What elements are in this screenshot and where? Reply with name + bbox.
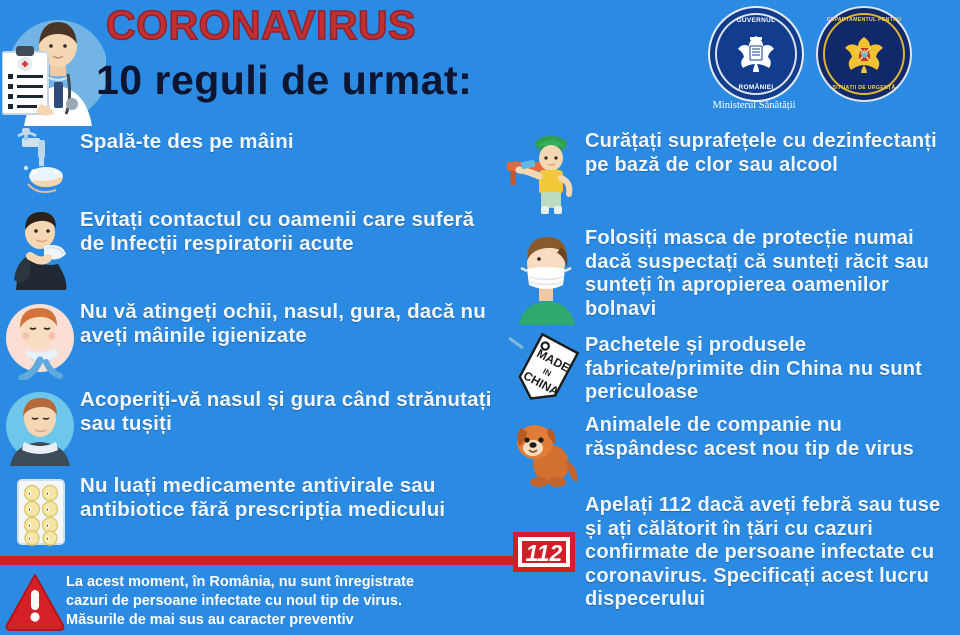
footer-line-2: cazuri de persoane infectate cu noul tip… — [66, 592, 414, 611]
rule-text: Evitați contactul cu oamenii care suferă… — [80, 206, 500, 256]
rule-text: Apelați 112 dacă aveți febră sau tuse și… — [585, 492, 960, 612]
rule-text: Acoperiți-vă nasul și gura când strănuta… — [80, 386, 500, 436]
doctor-illustration-icon — [2, 8, 106, 126]
rule-item: Evitați contactul cu oamenii care suferă… — [0, 206, 500, 298]
footer-text: La acest moment, în România, nu sunt înr… — [66, 568, 414, 630]
boy-touching-face-icon — [0, 298, 80, 370]
rule-text: Folosiți masca de protecție numai dacă s… — [585, 225, 960, 321]
ministry-label: Ministerul Sănătății — [698, 100, 810, 111]
rule-item: Nu vă atingeți ochii, nasul, gura, dacă … — [0, 298, 500, 386]
rule-text: Curățați suprafețele cu dezinfectanți pe… — [585, 128, 960, 177]
gov-seal-top-text: GUVERNUL — [710, 17, 802, 24]
dog-pet-icon — [505, 412, 585, 484]
boy-cleaning-surface-icon — [505, 128, 585, 200]
rule-item: Acoperiți-vă nasul și gura când strănuta… — [0, 386, 500, 472]
person-with-face-mask-icon — [505, 225, 585, 297]
rule-item: 112 Apelați 112 dacă aveți febră sau tus… — [505, 492, 960, 612]
footer-line-3: Măsurile de mai sus au caracter preventi… — [66, 611, 414, 630]
coronavirus-infographic-poster: CORONAVIRUS 10 reguli de urmat: GUVERNUL… — [0, 0, 960, 635]
rule-item: Curățați suprafețele cu dezinfectanți pe… — [505, 128, 960, 225]
dsu-seal-icon: DEPARTAMENTUL PENTRU SITUAȚII DE URGENȚĂ… — [816, 6, 912, 102]
rule-text: Nu vă atingeți ochii, nasul, gura, dacă … — [80, 298, 500, 348]
man-sneezing-icon — [0, 206, 80, 278]
rule-item: Animalele de companie nu răspândesc aces… — [505, 412, 960, 492]
warning-triangle-icon — [4, 571, 66, 633]
faucet-handwash-icon — [0, 128, 80, 200]
rules-column-left: Spală-te des pe mâini Evitați contactul … — [0, 128, 500, 558]
rule-item: Folosiți masca de protecție numai dacă s… — [505, 225, 960, 332]
rule-item: Nu luați medicamente antivirale sau anti… — [0, 472, 500, 558]
rule-item: Spală-te des pe mâini — [0, 128, 500, 206]
made-in-china-tag-icon: MADE IN CHINA — [505, 332, 585, 404]
dsu-seal-center-text: M.A.I. — [818, 50, 910, 56]
rule-text: Pachetele și produsele fabricate/primite… — [585, 332, 960, 405]
institution-logos: GUVERNUL ROMÂNIEI Ministerul Sănătății D… — [698, 4, 948, 124]
rule-text: Spală-te des pe mâini — [80, 128, 294, 154]
page-title: CORONAVIRUS — [106, 2, 416, 48]
rules-column-right: Curățați suprafețele cu dezinfectanți pe… — [505, 128, 960, 612]
footer-line-1: La acest moment, în România, nu sunt înr… — [66, 573, 414, 592]
person-covering-mouth-icon — [0, 386, 80, 458]
government-seal-icon: GUVERNUL ROMÂNIEI — [708, 6, 804, 102]
rule-text: Animalele de companie nu răspândesc aces… — [585, 412, 960, 461]
pill-blister-pack-icon — [0, 472, 80, 544]
rule-text: Nu luați medicamente antivirale sau anti… — [80, 472, 500, 522]
footer-notice: La acest moment, în România, nu sunt înr… — [0, 568, 520, 635]
emergency-number-text: 112 — [526, 540, 563, 566]
rule-item: MADE IN CHINA Pachetele și produsele fab… — [505, 332, 960, 412]
poster-header: CORONAVIRUS 10 reguli de urmat: GUVERNUL… — [0, 0, 960, 128]
footer-red-divider — [0, 556, 516, 565]
coat-of-arms-eagle-icon — [735, 32, 777, 76]
gov-seal-bottom-text: ROMÂNIEI — [710, 84, 802, 91]
page-subtitle: 10 reguli de urmat: — [96, 56, 472, 104]
